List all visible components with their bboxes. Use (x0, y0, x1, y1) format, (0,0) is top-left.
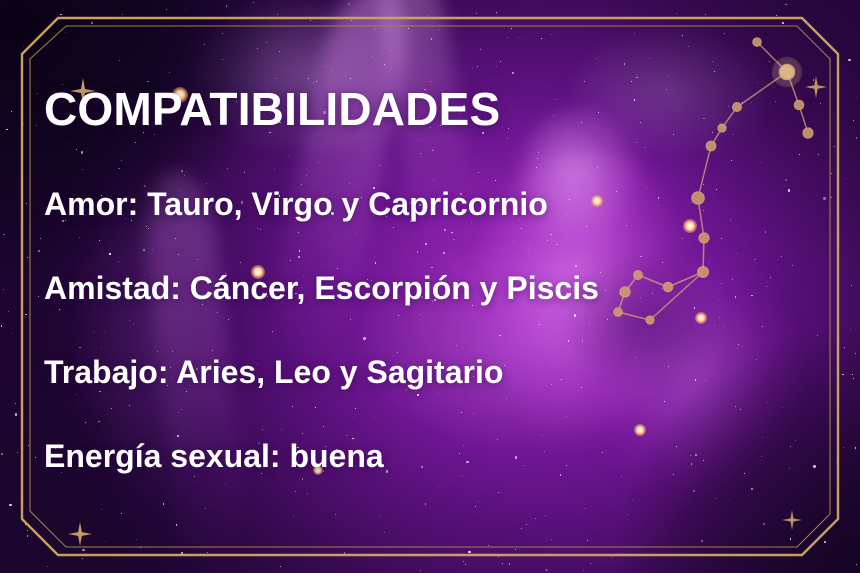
compatibility-card: COMPATIBILIDADES Amor: Tauro, Virgo y Ca… (0, 0, 860, 573)
compat-line-amor: Amor: Tauro, Virgo y Capricornio (44, 188, 744, 220)
four-point-star-icon (782, 510, 802, 530)
compatibility-text-block: COMPATIBILIDADES Amor: Tauro, Virgo y Ca… (44, 86, 744, 472)
compat-line-trabajo: Trabajo: Aries, Leo y Sagitario (44, 356, 744, 388)
compat-line-energia: Energía sexual: buena (44, 440, 744, 472)
page-title: COMPATIBILIDADES (44, 86, 744, 132)
compat-line-amistad: Amistad: Cáncer, Escorpión y Piscis (44, 272, 744, 304)
four-point-star-icon (805, 76, 827, 98)
four-point-star-icon (68, 522, 92, 546)
